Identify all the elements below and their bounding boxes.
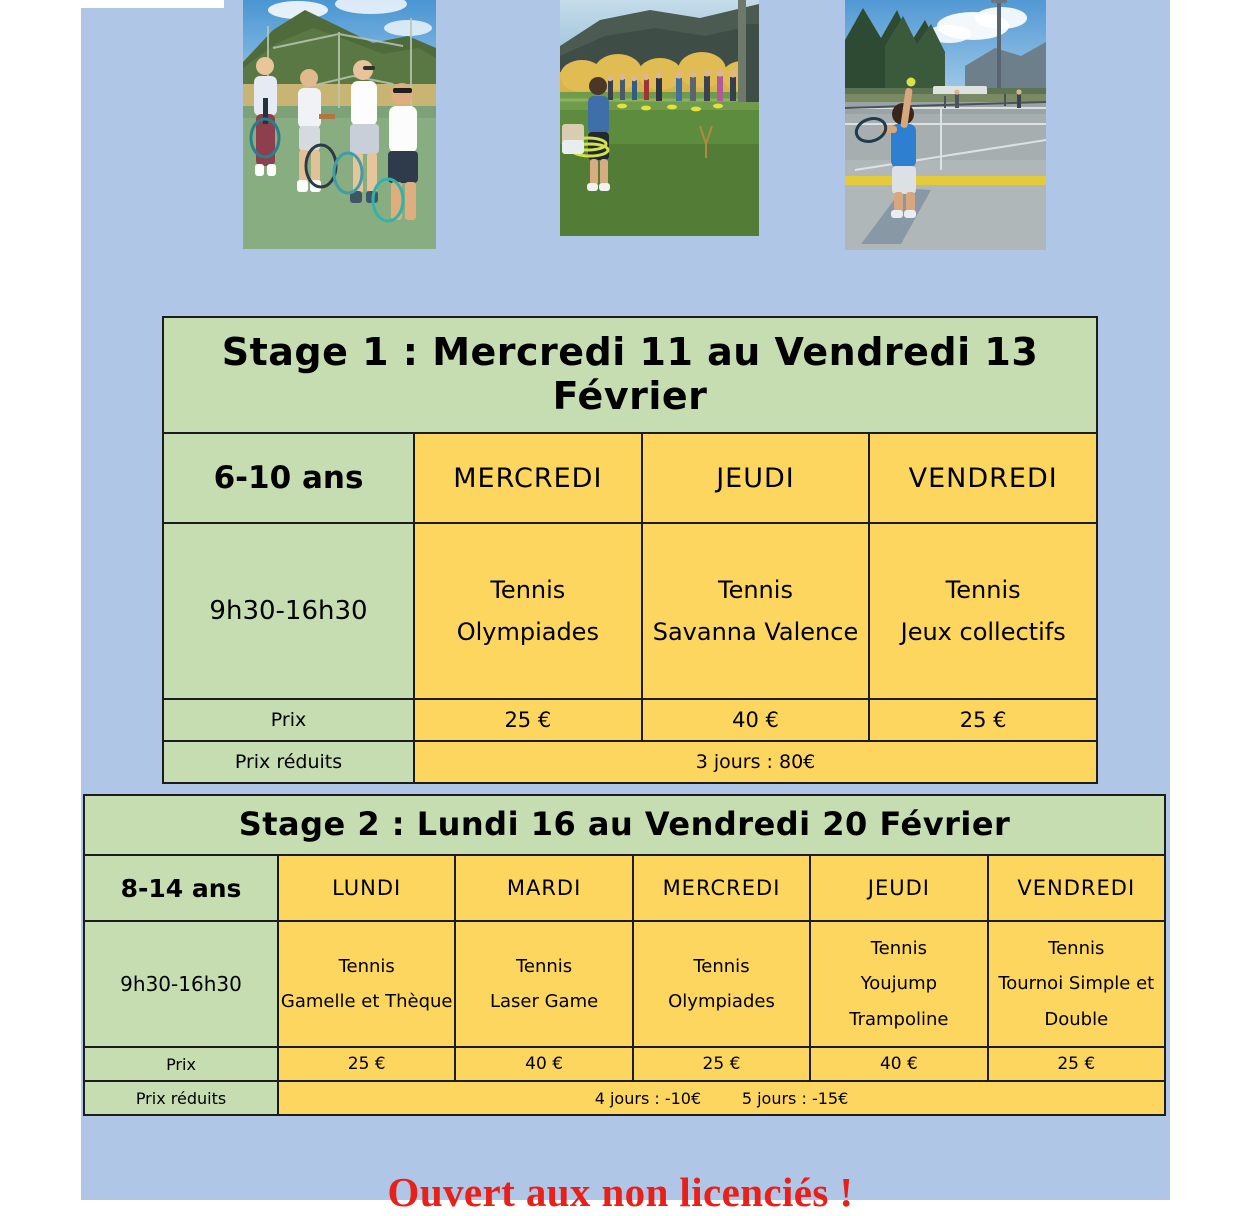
stage-1-day-vendredi: VENDREDI bbox=[869, 433, 1097, 523]
stage-2-price-row: Prix 25 € 40 € 25 € 40 € 25 € bbox=[84, 1047, 1165, 1081]
poster-page: Stage 1 : Mercredi 11 au Vendredi 13 Fév… bbox=[0, 0, 1241, 1200]
stage-1-time-slot: 9h30-16h30 bbox=[163, 523, 414, 699]
stage-1-price-mercredi: 25 € bbox=[414, 699, 642, 741]
photo-field-activity bbox=[560, 0, 759, 236]
stage-2-price-mardi: 40 € bbox=[455, 1047, 632, 1081]
stage-2-activity-jeudi: TennisYoujumpTrampoline bbox=[810, 921, 987, 1047]
photo-field-activity-art bbox=[560, 0, 759, 236]
stage-1-reduced-label: Prix réduits bbox=[163, 741, 414, 783]
stage-2-title: Stage 2 : Lundi 16 au Vendredi 20 Févrie… bbox=[84, 795, 1165, 855]
stage-2-activity-lundi: TennisGamelle et Thèque bbox=[278, 921, 455, 1047]
photo-tennis-serve bbox=[845, 0, 1046, 250]
stage-2-activity-mercredi: TennisOlympiades bbox=[633, 921, 810, 1047]
stage-1-activity-mercredi: TennisOlympiades bbox=[414, 523, 642, 699]
stage-1-reduced-value: 3 jours : 80€ bbox=[414, 741, 1097, 783]
stage-1-header-row: 6-10 ans MERCREDI JEUDI VENDREDI bbox=[163, 433, 1097, 523]
stage-1-day-mercredi: MERCREDI bbox=[414, 433, 642, 523]
stage-2-activity-mardi: TennisLaser Game bbox=[455, 921, 632, 1047]
stage-2-reduced-label: Prix réduits bbox=[84, 1081, 278, 1115]
stage-2-day-jeudi: JEUDI bbox=[810, 855, 987, 921]
stage-1-title-row: Stage 1 : Mercredi 11 au Vendredi 13 Fév… bbox=[163, 317, 1097, 433]
stage-2-price-mercredi: 25 € bbox=[633, 1047, 810, 1081]
open-to-non-members-note: Ouvert aux non licenciés ! bbox=[0, 1168, 1241, 1216]
stage-2-price-lundi: 25 € bbox=[278, 1047, 455, 1081]
stage-2-day-mardi: MARDI bbox=[455, 855, 632, 921]
stage-1-age-range: 6-10 ans bbox=[163, 433, 414, 523]
stage-1-activity-jeudi: TennisSavanna Valence bbox=[642, 523, 870, 699]
stage-2-day-vendredi: VENDREDI bbox=[988, 855, 1165, 921]
stage-2-day-lundi: LUNDI bbox=[278, 855, 455, 921]
stage-2-reduced-text: 4 jours : -10€ 5 jours : -15€ bbox=[595, 1089, 849, 1108]
stage-2-activity-vendredi: TennisTournoi Simple etDouble bbox=[988, 921, 1165, 1047]
stage-2-activity-row: 9h30-16h30 TennisGamelle et Thèque Tenni… bbox=[84, 921, 1165, 1047]
stage-1-activity-row: 9h30-16h30 TennisOlympiades TennisSavann… bbox=[163, 523, 1097, 699]
stage-2-day-mercredi: MERCREDI bbox=[633, 855, 810, 921]
photo-tennis-group bbox=[243, 0, 436, 249]
stage-2-header-row: 8-14 ans LUNDI MARDI MERCREDI JEUDI VEND… bbox=[84, 855, 1165, 921]
stage-2-reduced-row: Prix réduits 4 jours : -10€ 5 jours : -1… bbox=[84, 1081, 1165, 1115]
stage-1-title: Stage 1 : Mercredi 11 au Vendredi 13 Fév… bbox=[163, 317, 1097, 433]
stage-2-price-label: Prix bbox=[84, 1047, 278, 1081]
stage-1-price-vendredi: 25 € bbox=[869, 699, 1097, 741]
stage-1-activity-vendredi: TennisJeux collectifs bbox=[869, 523, 1097, 699]
stage-2-time-slot: 9h30-16h30 bbox=[84, 921, 278, 1047]
stage-2-reduced-value: 4 jours : -10€ 5 jours : -15€ bbox=[278, 1081, 1165, 1115]
stage-2-table: Stage 2 : Lundi 16 au Vendredi 20 Févrie… bbox=[83, 794, 1166, 1116]
stage-1-reduced-row: Prix réduits 3 jours : 80€ bbox=[163, 741, 1097, 783]
photo-tennis-group-art bbox=[243, 0, 436, 249]
stage-2-price-vendredi: 25 € bbox=[988, 1047, 1165, 1081]
stage-2-title-row: Stage 2 : Lundi 16 au Vendredi 20 Févrie… bbox=[84, 795, 1165, 855]
stage-1-table: Stage 1 : Mercredi 11 au Vendredi 13 Fév… bbox=[162, 316, 1098, 784]
photo-tennis-serve-art bbox=[845, 0, 1046, 250]
stage-2-price-jeudi: 40 € bbox=[810, 1047, 987, 1081]
stage-1-price-label: Prix bbox=[163, 699, 414, 741]
stage-1-price-jeudi: 40 € bbox=[642, 699, 870, 741]
stage-1-day-jeudi: JEUDI bbox=[642, 433, 870, 523]
stage-1-price-row: Prix 25 € 40 € 25 € bbox=[163, 699, 1097, 741]
stage-2-age-range: 8-14 ans bbox=[84, 855, 278, 921]
top-white-strip bbox=[81, 0, 224, 8]
